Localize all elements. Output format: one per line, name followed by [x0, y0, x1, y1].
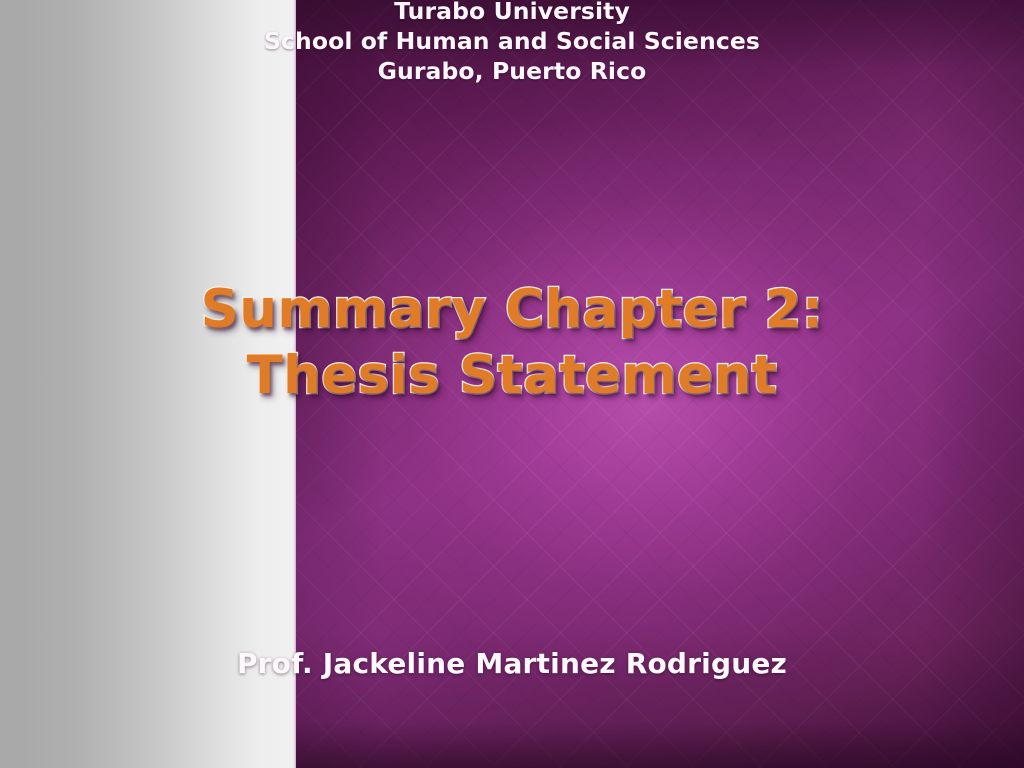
title-line-2: Thesis Statement: [10, 343, 1014, 409]
header-line-university: Turabo University: [16, 0, 1008, 26]
title-line-1: Summary Chapter 2:: [10, 277, 1014, 343]
title-slide: Turabo University School of Human and So…: [0, 0, 1024, 768]
page-title: Summary Chapter 2: Thesis Statement: [0, 277, 1024, 409]
institution-header: Turabo University School of Human and So…: [0, 0, 1024, 86]
header-line-location: Gurabo, Puerto Rico: [16, 56, 1008, 86]
author-credit: Prof. Jackeline Martinez Rodriguez: [0, 645, 1024, 683]
slide-content: Turabo University School of Human and So…: [0, 0, 1024, 768]
author-name: Prof. Jackeline Martinez Rodriguez: [28, 645, 996, 683]
header-line-school: School of Human and Social Sciences: [16, 26, 1008, 56]
